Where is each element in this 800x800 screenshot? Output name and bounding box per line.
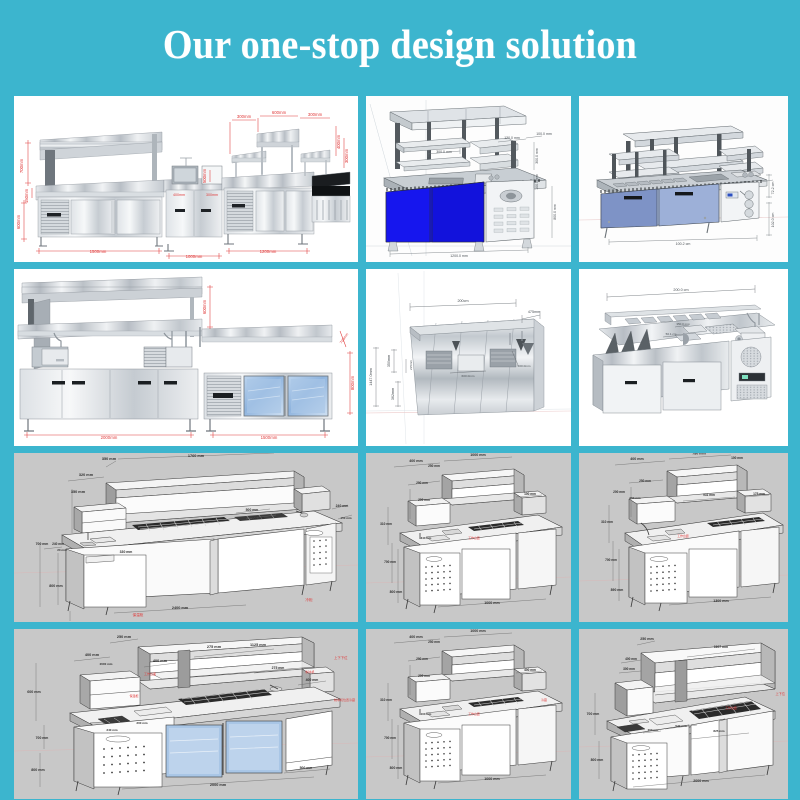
design-cell-3[interactable]: 72.2 cm 102.0 cm 100.2 cm bbox=[579, 96, 788, 262]
svg-text:275 mm: 275 mm bbox=[272, 666, 285, 670]
svg-text:制冰机位置冷藏: 制冰机位置冷藏 bbox=[334, 697, 355, 702]
svg-text:200 mm: 200 mm bbox=[418, 498, 430, 502]
svg-text:工作台面: 工作台面 bbox=[677, 533, 689, 538]
figure-stainless-elevation-1: 700mm 150mm 600mm 1500mm 1000mm 1200mm 3… bbox=[14, 96, 358, 262]
page-root: Our one-stop design solution bbox=[0, 0, 800, 800]
svg-text:500mm: 500mm bbox=[202, 168, 207, 183]
svg-text:700mm: 700mm bbox=[19, 158, 24, 173]
design-cell-4[interactable]: 600mm 2000mm 1500mm 800mm 700mm bbox=[14, 269, 358, 446]
svg-text:300.0 mm: 300.0 mm bbox=[535, 148, 539, 164]
svg-text:320 mm: 320 mm bbox=[79, 473, 94, 477]
svg-text:2000 mm: 2000 mm bbox=[210, 783, 227, 787]
svg-text:2000mm: 2000mm bbox=[101, 435, 118, 440]
svg-text:350.0 mm: 350.0 mm bbox=[676, 322, 690, 326]
svg-text:700 mm: 700 mm bbox=[384, 736, 396, 740]
svg-text:102.0 cm: 102.0 cm bbox=[771, 213, 775, 228]
figure-line-counter-angled: 250 mm 400 mm 300 mm 1107 mm 700 mm 800 … bbox=[579, 629, 788, 799]
svg-text:上下位: 上下位 bbox=[775, 691, 785, 696]
svg-text:600 mm: 600 mm bbox=[27, 690, 40, 694]
svg-text:700 mm: 700 mm bbox=[605, 558, 617, 562]
svg-text:1300 mm: 1300 mm bbox=[713, 599, 728, 603]
svg-text:800 mm: 800 mm bbox=[49, 584, 62, 588]
svg-text:400 mm: 400 mm bbox=[630, 457, 643, 461]
svg-text:工作台面: 工作台面 bbox=[468, 711, 480, 716]
figure-line-counter-2000-glass: 250 mm 400 mm 400 mm 275 mm 1125 mm 600 … bbox=[14, 629, 358, 799]
svg-text:362mm: 362mm bbox=[391, 388, 395, 400]
svg-text:72.2 cm: 72.2 cm bbox=[771, 182, 775, 195]
figure-top-perspective-counter: 200cm 475mm 1447.0mm 350mm 362mm 235mm 6… bbox=[366, 269, 571, 446]
svg-text:300mm: 300mm bbox=[344, 148, 349, 163]
svg-text:310 mm: 310 mm bbox=[601, 520, 613, 524]
svg-text:100 mm: 100 mm bbox=[731, 456, 743, 460]
svg-text:475mm: 475mm bbox=[528, 310, 540, 314]
svg-text:700 mm: 700 mm bbox=[36, 736, 49, 740]
svg-text:800mm: 800mm bbox=[350, 375, 355, 390]
svg-text:150mm: 150mm bbox=[24, 188, 29, 203]
page-title: Our one-stop design solution bbox=[163, 20, 637, 68]
svg-text:100.0 mm: 100.0 mm bbox=[535, 174, 539, 190]
svg-text:1000mm: 1000mm bbox=[186, 254, 203, 259]
svg-text:400 mm: 400 mm bbox=[306, 678, 319, 682]
svg-text:300 mm: 300 mm bbox=[136, 721, 148, 725]
svg-text:600mm: 600mm bbox=[202, 299, 207, 314]
svg-text:400mm: 400mm bbox=[336, 134, 341, 149]
svg-text:250 mm: 250 mm bbox=[639, 479, 651, 483]
svg-text:500.0mm: 500.0mm bbox=[518, 364, 531, 368]
svg-text:工作台面: 工作台面 bbox=[725, 705, 737, 710]
svg-text:1200.0 mm: 1200.0 mm bbox=[450, 254, 468, 258]
svg-text:冷藏: 冷藏 bbox=[541, 697, 547, 702]
svg-text:780 mm: 780 mm bbox=[692, 453, 705, 456]
svg-text:50.1 cm: 50.1 cm bbox=[666, 332, 677, 336]
svg-text:400 mm: 400 mm bbox=[409, 635, 422, 639]
design-cell-10[interactable]: 250 mm 400 mm 400 mm 275 mm 1125 mm 600 … bbox=[14, 629, 358, 799]
design-gallery-grid: 700mm 150mm 600mm 1500mm 1000mm 1200mm 3… bbox=[14, 96, 786, 792]
design-cell-12[interactable]: 250 mm 400 mm 300 mm 1107 mm 700 mm 800 … bbox=[579, 629, 788, 799]
svg-text:800 mm: 800 mm bbox=[31, 768, 44, 772]
svg-text:120.0 mm: 120.0 mm bbox=[504, 136, 520, 140]
figure-stainless-elevation-sinks: 600mm 2000mm 1500mm 800mm 700mm bbox=[14, 269, 358, 446]
svg-text:250 mm: 250 mm bbox=[640, 637, 653, 641]
svg-text:540 mm: 540 mm bbox=[675, 724, 687, 728]
design-cell-1[interactable]: 700mm 150mm 600mm 1500mm 1000mm 1200mm 3… bbox=[14, 96, 358, 262]
svg-text:2000 mm: 2000 mm bbox=[693, 779, 708, 783]
figure-top-counter-wells: 200.0 cm 350.0 mm 50.1 cm bbox=[579, 269, 788, 446]
svg-text:200 mm: 200 mm bbox=[613, 490, 625, 494]
svg-text:300mm: 300mm bbox=[308, 112, 323, 117]
figure-periwinkle-front-counter: 72.2 cm 102.0 cm 100.2 cm bbox=[579, 96, 788, 262]
svg-text:工作台面: 工作台面 bbox=[468, 535, 480, 540]
figure-line-counter-1000: 400 mm 1000 mm 250 mm 290 mm 200 mm 310 … bbox=[366, 453, 571, 622]
svg-text:250 mm: 250 mm bbox=[428, 464, 440, 468]
svg-text:400mm: 400mm bbox=[173, 193, 185, 197]
svg-text:400 mm: 400 mm bbox=[524, 668, 536, 672]
design-cell-7[interactable]: 350 mm 1760 mm 320 mm 350 mm 700 mm 240 … bbox=[14, 453, 358, 622]
svg-text:1447.0mm: 1447.0mm bbox=[369, 368, 373, 385]
svg-text:200 mm: 200 mm bbox=[648, 728, 659, 732]
svg-text:235mm: 235mm bbox=[409, 360, 413, 371]
svg-text:100 mm: 100 mm bbox=[421, 712, 432, 716]
svg-text:250 mm: 250 mm bbox=[629, 496, 641, 500]
svg-text:600mm: 600mm bbox=[16, 214, 21, 229]
svg-text:600mm: 600mm bbox=[272, 110, 287, 115]
svg-text:220 mm: 220 mm bbox=[252, 516, 264, 520]
svg-text:制冰机: 制冰机 bbox=[305, 669, 314, 674]
svg-text:1000 mm: 1000 mm bbox=[484, 777, 499, 781]
svg-text:1500mm: 1500mm bbox=[261, 435, 278, 440]
figure-line-counter-1000-b: 400 mm 1000 mm 250 mm 290 mm 200 mm 310 … bbox=[366, 629, 571, 799]
svg-text:300mm: 300mm bbox=[206, 193, 218, 197]
design-cell-8[interactable]: 400 mm 1000 mm 250 mm 290 mm 200 mm 310 … bbox=[366, 453, 571, 622]
svg-text:200cm: 200cm bbox=[457, 299, 468, 303]
svg-text:2400 mm: 2400 mm bbox=[172, 606, 189, 610]
svg-text:100.0 mm: 100.0 mm bbox=[536, 132, 552, 136]
figure-line-counter-1300: 400 mm 780 mm 100 mm 200 mm 250 mm 250 m… bbox=[579, 453, 788, 622]
svg-text:400 mm: 400 mm bbox=[153, 659, 168, 663]
svg-text:800 mm: 800 mm bbox=[390, 590, 403, 594]
svg-text:500 mm: 500 mm bbox=[300, 766, 313, 770]
svg-text:290 mm: 290 mm bbox=[416, 481, 428, 485]
svg-text:290 mm: 290 mm bbox=[416, 657, 428, 661]
design-cell-9[interactable]: 400 mm 780 mm 100 mm 200 mm 250 mm 250 m… bbox=[579, 453, 788, 622]
page-banner: Our one-stop design solution bbox=[0, 0, 800, 88]
svg-text:冷柜: 冷柜 bbox=[305, 597, 313, 602]
svg-text:350 mm: 350 mm bbox=[71, 490, 86, 494]
design-cell-5[interactable]: 200cm 475mm 1447.0mm 350mm 362mm 235mm 6… bbox=[366, 269, 571, 446]
svg-text:上下下位: 上下下位 bbox=[334, 655, 348, 660]
svg-text:1500mm: 1500mm bbox=[90, 249, 107, 254]
svg-text:200.0 cm: 200.0 cm bbox=[673, 288, 688, 292]
svg-text:800.0 mm: 800.0 mm bbox=[553, 204, 557, 220]
figure-line-counter-2400: 350 mm 1760 mm 320 mm 350 mm 700 mm 240 … bbox=[14, 453, 358, 622]
svg-text:175 mm: 175 mm bbox=[753, 492, 765, 496]
svg-text:1760 mm: 1760 mm bbox=[188, 454, 205, 458]
svg-text:1000 mm: 1000 mm bbox=[470, 629, 485, 633]
svg-text:400 mm: 400 mm bbox=[85, 653, 100, 657]
svg-text:2000 mm: 2000 mm bbox=[100, 662, 113, 666]
svg-text:931 mm: 931 mm bbox=[703, 493, 715, 497]
svg-text:200 mm: 200 mm bbox=[418, 674, 430, 678]
svg-text:保温柜: 保温柜 bbox=[129, 693, 138, 698]
svg-text:300mm: 300mm bbox=[237, 114, 252, 119]
design-cell-11[interactable]: 400 mm 1000 mm 250 mm 290 mm 200 mm 310 … bbox=[366, 629, 571, 799]
svg-text:330 mm: 330 mm bbox=[120, 550, 133, 554]
svg-text:保温柜: 保温柜 bbox=[133, 612, 144, 617]
svg-text:500 mm: 500 mm bbox=[246, 508, 259, 512]
svg-text:150 mm: 150 mm bbox=[340, 516, 352, 520]
svg-text:700 mm: 700 mm bbox=[384, 560, 396, 564]
svg-text:300 mm: 300 mm bbox=[623, 667, 635, 671]
svg-text:1200mm: 1200mm bbox=[260, 249, 277, 254]
svg-text:890 mm: 890 mm bbox=[611, 588, 624, 592]
svg-text:240 mm: 240 mm bbox=[52, 542, 64, 546]
design-cell-6[interactable]: 200.0 cm 350.0 mm 50.1 cm bbox=[579, 269, 788, 446]
svg-text:300.0 mm: 300.0 mm bbox=[436, 150, 452, 154]
svg-text:700 mm: 700 mm bbox=[36, 542, 49, 546]
svg-text:350mm: 350mm bbox=[387, 355, 391, 367]
svg-text:310 mm: 310 mm bbox=[380, 522, 392, 526]
svg-text:340 mm: 340 mm bbox=[421, 536, 432, 540]
svg-text:700 mm: 700 mm bbox=[587, 712, 600, 716]
svg-text:工作台面: 工作台面 bbox=[144, 671, 156, 676]
svg-text:350 mm: 350 mm bbox=[102, 457, 117, 461]
svg-text:1000 mm: 1000 mm bbox=[484, 601, 499, 605]
svg-text:400 mm: 400 mm bbox=[409, 459, 422, 463]
svg-text:100 mm: 100 mm bbox=[524, 492, 536, 496]
svg-text:250 mm: 250 mm bbox=[428, 640, 440, 644]
svg-text:1000 mm: 1000 mm bbox=[470, 453, 485, 457]
svg-text:800 mm: 800 mm bbox=[591, 758, 604, 762]
svg-text:600.0mm: 600.0mm bbox=[462, 374, 475, 378]
svg-text:825 mm: 825 mm bbox=[713, 729, 725, 733]
svg-text:800 mm: 800 mm bbox=[390, 766, 403, 770]
figure-blue-front-counter: 300.0 mm 120.0 mm 100.0 mm 300.0 mm 100.… bbox=[366, 96, 571, 262]
svg-text:240 mm: 240 mm bbox=[336, 504, 349, 508]
svg-text:1125 mm: 1125 mm bbox=[250, 643, 267, 647]
svg-text:340 mm: 340 mm bbox=[106, 728, 118, 732]
svg-text:1107 mm: 1107 mm bbox=[714, 645, 728, 649]
svg-text:20 mm: 20 mm bbox=[57, 548, 67, 552]
svg-text:250 mm: 250 mm bbox=[117, 635, 132, 639]
svg-text:100.2 cm: 100.2 cm bbox=[676, 242, 691, 246]
svg-text:310 mm: 310 mm bbox=[380, 698, 392, 702]
svg-text:400 mm: 400 mm bbox=[625, 657, 637, 661]
svg-text:275 mm: 275 mm bbox=[207, 645, 222, 649]
design-cell-2[interactable]: 300.0 mm 120.0 mm 100.0 mm 300.0 mm 100.… bbox=[366, 96, 571, 262]
